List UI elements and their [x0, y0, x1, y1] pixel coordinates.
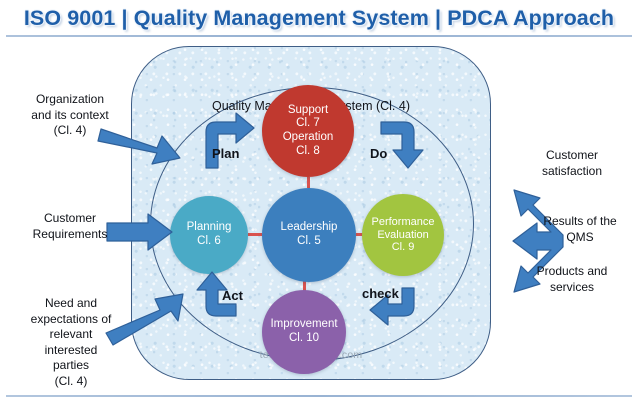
node-planning-line1: Planning — [187, 221, 232, 235]
label-need-line5: parties — [12, 358, 130, 374]
node-performance-line2: Evaluation — [377, 229, 428, 242]
label-organization-line3: (Cl. 4) — [10, 123, 130, 139]
connector-planning-leadership — [248, 233, 262, 236]
pdca-label-plan: Plan — [212, 146, 239, 161]
node-planning-line2: Cl. 6 — [197, 235, 221, 249]
node-support-line1: Support — [288, 104, 328, 118]
label-interested-parties: Need and expectations of relevant intere… — [12, 296, 130, 390]
node-performance-line3: Cl. 9 — [392, 241, 415, 254]
label-need-line1: Need and — [12, 296, 130, 312]
label-organization-line1: Organization — [10, 92, 130, 108]
pdca-label-act: Act — [222, 288, 243, 303]
title-divider — [6, 35, 632, 37]
connector-support-leadership — [307, 177, 310, 188]
label-customer-req-line1: Customer — [14, 211, 126, 227]
label-organization-context: Organization and its context (Cl. 4) — [10, 92, 130, 139]
label-cust-sat-line1: Customer — [516, 148, 628, 164]
label-customer-req-line2: Requirements — [14, 227, 126, 243]
node-leadership-line1: Leadership — [281, 221, 338, 235]
label-results-of-qms: Results of the QMS — [528, 214, 632, 245]
label-results-line1: Results of the — [528, 214, 632, 230]
node-leadership-line2: Cl. 5 — [297, 235, 321, 249]
node-support-operation[interactable]: Support Cl. 7 Operation Cl. 8 — [262, 85, 354, 177]
label-organization-line2: and its context — [10, 108, 130, 124]
label-customer-satisfaction: Customer satisfaction — [516, 148, 628, 179]
label-need-line3: relevant — [12, 327, 130, 343]
node-improvement[interactable]: Improvement Cl. 10 — [262, 290, 346, 374]
node-support-line3: Operation — [283, 131, 334, 145]
diagram-canvas: ISO 9001 | Quality Management System | P… — [0, 0, 638, 400]
label-need-line6: (Cl. 4) — [12, 374, 130, 390]
page-title-text: ISO 9001 | Quality Management System | P… — [24, 6, 614, 31]
label-customer-requirements: Customer Requirements — [14, 211, 126, 242]
node-support-line2: Cl. 7 — [296, 117, 320, 131]
label-need-line4: interested — [12, 343, 130, 359]
label-need-line2: expectations of — [12, 312, 130, 328]
pdca-label-do: Do — [370, 146, 387, 161]
node-performance-line1: Performance — [372, 216, 435, 229]
label-cust-sat-line2: satisfaction — [516, 164, 628, 180]
node-support-line4: Cl. 8 — [296, 145, 320, 159]
label-products-services: Products and services — [514, 264, 630, 295]
node-improvement-line1: Improvement — [270, 318, 337, 332]
node-improvement-line2: Cl. 10 — [289, 332, 319, 346]
label-products-line1: Products and — [514, 264, 630, 280]
node-leadership[interactable]: Leadership Cl. 5 — [262, 188, 356, 282]
node-performance-evaluation[interactable]: Performance Evaluation Cl. 9 — [362, 194, 444, 276]
label-products-line2: services — [514, 280, 630, 296]
node-planning[interactable]: Planning Cl. 6 — [170, 196, 248, 274]
pdca-label-check: check — [362, 286, 399, 301]
bottom-divider — [6, 395, 632, 397]
label-results-line2: QMS — [528, 230, 632, 246]
page-title: ISO 9001 | Quality Management System | P… — [0, 0, 638, 37]
